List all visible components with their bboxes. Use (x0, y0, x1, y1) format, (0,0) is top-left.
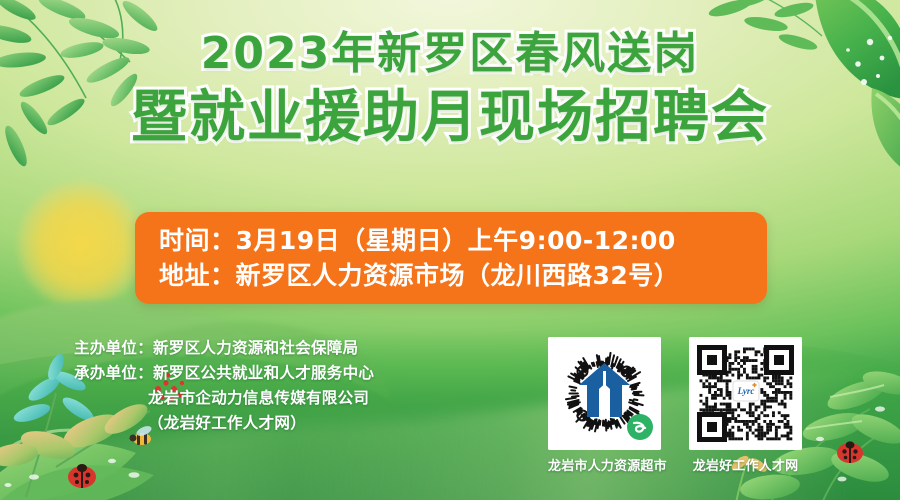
wechat-miniprogram-qr-icon[interactable] (548, 337, 661, 450)
poster-title: 2023年新罗区春风送岗 暨就业援助月现场招聘会 (0, 32, 900, 146)
organizer-coordinator-line: 承办单位：新罗区公共就业和人才服务中心 (74, 361, 374, 386)
organizer-company-line: 龙岩市企动力信息传媒有限公司 (74, 386, 374, 411)
svg-text:Lyrc: Lyrc (737, 386, 755, 396)
organizer-block: 主办单位：新罗区人力资源和社会保障局 承办单位：新罗区公共就业和人才服务中心 龙… (74, 336, 374, 436)
organizer-website-line: （龙岩好工作人才网） (74, 411, 374, 436)
event-time-line: 时间：3月19日（星期日）上午9:00-12:00 (159, 223, 767, 258)
qr-block-hr-supermarket[interactable]: 龙岩市人力资源超市 (548, 337, 661, 474)
qr-code-group: 龙岩市人力资源超市 Lyrc (548, 337, 802, 474)
qr-block-job-website[interactable]: Lyrc 龙岩好工作人才网 (689, 337, 802, 474)
recruitment-poster: 2023年新罗区春风送岗 暨就业援助月现场招聘会 时间：3月19日（星期日）上午… (0, 0, 900, 500)
event-info-box: 时间：3月19日（星期日）上午9:00-12:00 地址：新罗区人力资源市场（龙… (135, 212, 767, 304)
qr-caption-job-website: 龙岩好工作人才网 (689, 455, 802, 474)
website-qr-icon[interactable]: Lyrc (689, 337, 802, 450)
sun-icon (18, 182, 144, 308)
organizer-host-line: 主办单位：新罗区人力资源和社会保障局 (74, 336, 374, 361)
qr-caption-hr-supermarket: 龙岩市人力资源超市 (548, 455, 661, 474)
title-line-2: 暨就业援助月现场招聘会 (0, 90, 900, 146)
event-address-line: 地址：新罗区人力资源市场（龙川西路32号） (159, 258, 767, 293)
title-line-1: 2023年新罗区春风送岗 (0, 32, 900, 76)
